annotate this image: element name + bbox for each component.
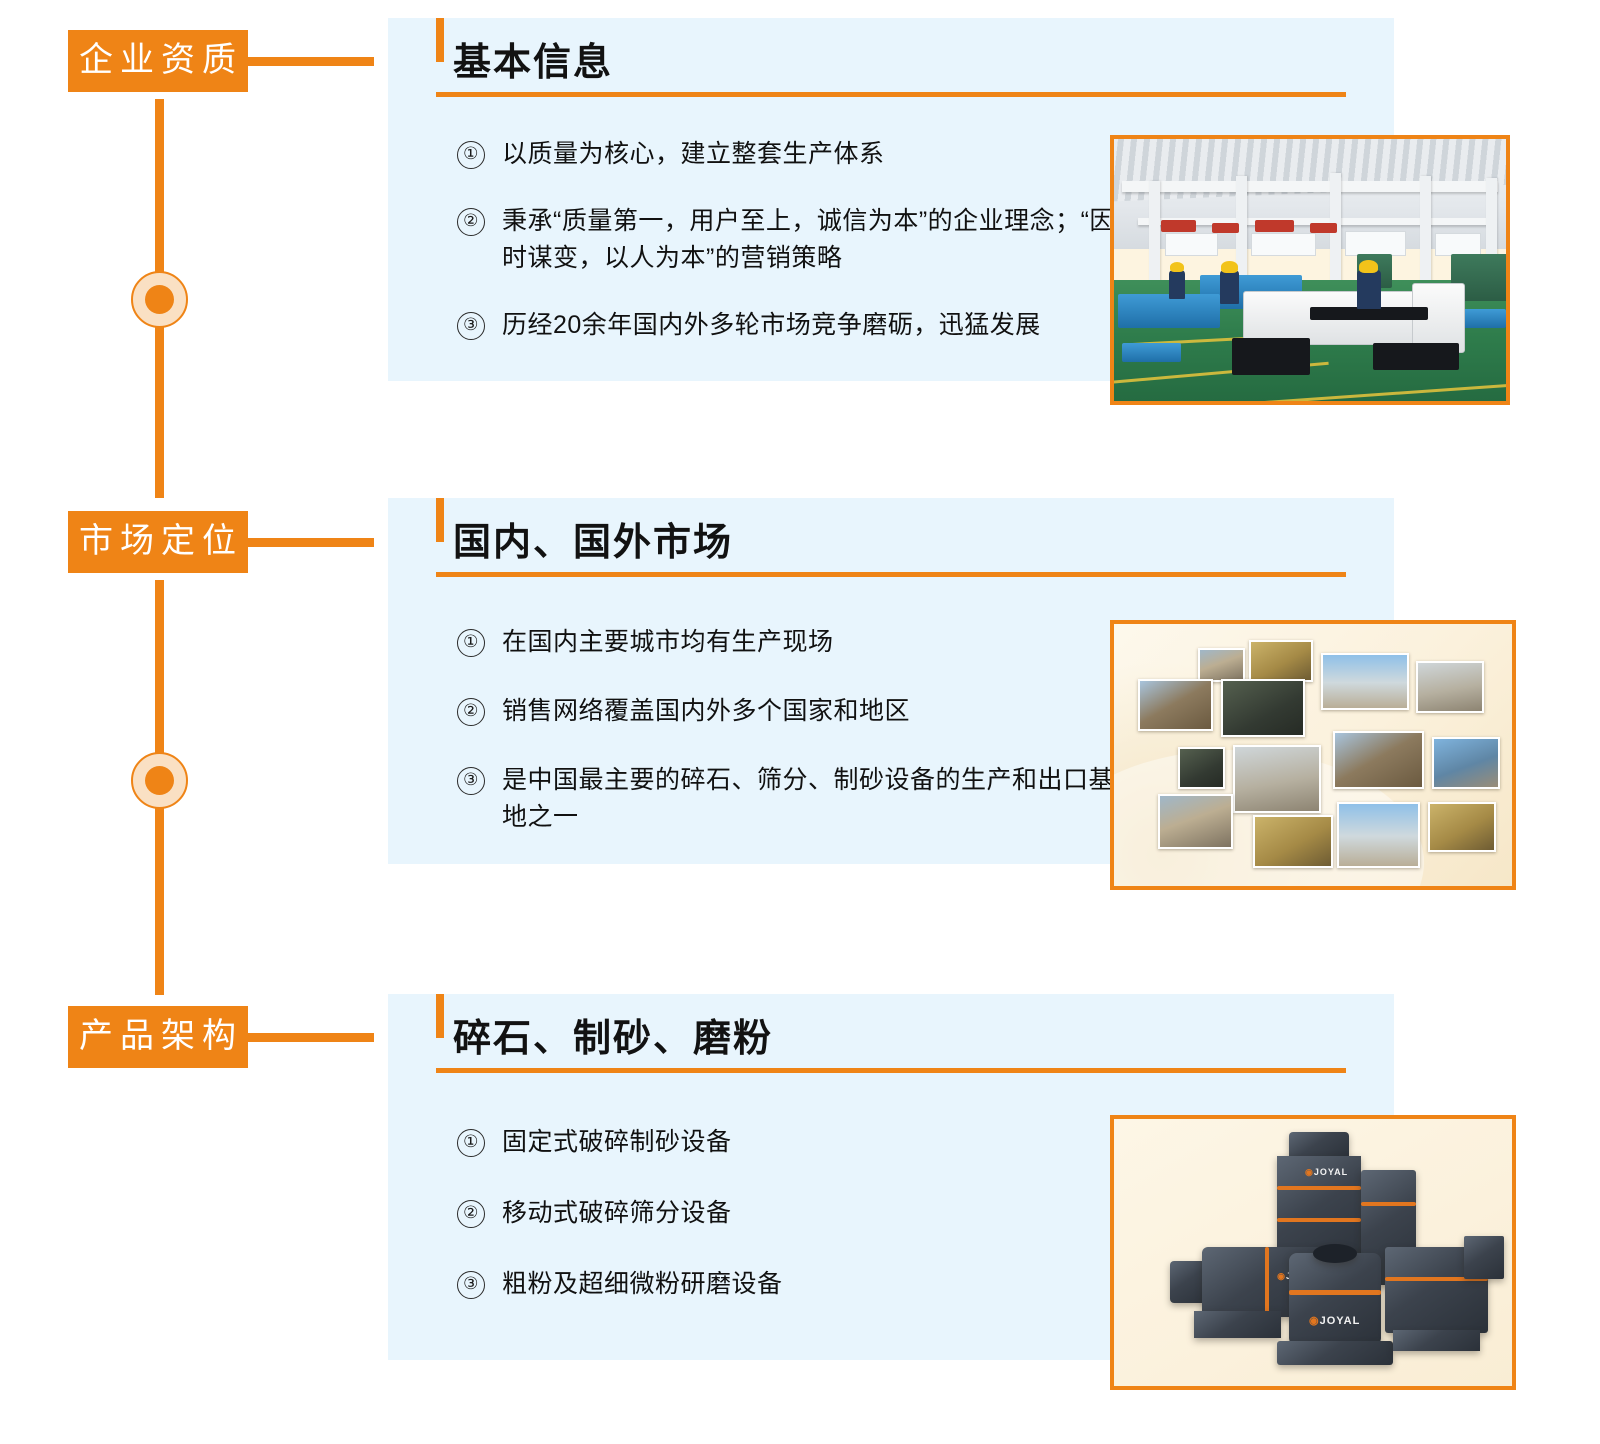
section-photo-3: ◉JOYAL ◉JOYAL ◉JOYAL: [1110, 1115, 1516, 1390]
list-item-text: 粗粉及超细微粉研磨设备: [502, 1266, 1117, 1303]
list-item-text: 在国内主要城市均有生产现场: [502, 624, 1117, 661]
list-item: ② 移动式破碎筛分设备: [457, 1195, 1117, 1232]
product-machinery-illustration: ◉JOYAL ◉JOYAL ◉JOYAL: [1114, 1119, 1512, 1386]
title-underline-3: [436, 1068, 1346, 1073]
title-underline-1: [436, 92, 1346, 97]
list-item: ③ 是中国最主要的碎石、筛分、制砂设备的生产和出口基地之一: [457, 762, 1117, 836]
list-marker-icon: ②: [457, 1200, 485, 1228]
timeline-node-dot-1: [131, 271, 188, 328]
panel-title-row-2: 国内、国外市场: [436, 498, 1346, 590]
section-photo-1: [1110, 135, 1510, 405]
list-item-text: 秉承“质量第一，用户至上，诚信为本”的企业理念；“因时谋变，以人为本”的营销策略: [502, 203, 1117, 277]
list-marker-icon: ①: [457, 629, 485, 657]
infographic-page: 企业资质 市场定位 产品架构 基本信息 ① 以质量为核心，建立整套生产体系 ② …: [0, 0, 1600, 1444]
list-item-text: 固定式破碎制砂设备: [502, 1124, 1117, 1161]
timeline-node-dot-2: [131, 752, 188, 809]
stage-connector-line-3: [248, 1033, 374, 1042]
list-item: ③ 粗粉及超细微粉研磨设备: [457, 1266, 1117, 1303]
panel-title-row-3: 碎石、制砂、磨粉: [436, 994, 1346, 1086]
list-item: ② 秉承“质量第一，用户至上，诚信为本”的企业理念；“因时谋变，以人为本”的营销…: [457, 203, 1117, 277]
list-item-text: 销售网络覆盖国内外多个国家和地区: [502, 693, 1117, 730]
list-item: ③ 历经20余年国内外多轮市场竞争磨砺，迅猛发展: [457, 307, 1117, 344]
list-marker-icon: ①: [457, 141, 485, 169]
stage-badge-label-3: 产品架构: [68, 1006, 248, 1068]
stage-marker-3[interactable]: 产品架构: [68, 1006, 374, 1068]
list-item-text: 以质量为核心，建立整套生产体系: [502, 136, 1117, 173]
stage-badge-label-2: 市场定位: [68, 511, 248, 573]
panel-list-2: ① 在国内主要城市均有生产现场 ② 销售网络覆盖国内外多个国家和地区 ③ 是中国…: [457, 624, 1117, 836]
list-item-text: 历经20余年国内外多轮市场竞争磨砺，迅猛发展: [502, 307, 1117, 344]
panel-list-3: ① 固定式破碎制砂设备 ② 移动式破碎筛分设备 ③ 粗粉及超细微粉研磨设备: [457, 1124, 1117, 1303]
stage-marker-2[interactable]: 市场定位: [68, 511, 374, 573]
list-marker-icon: ③: [457, 767, 485, 795]
list-marker-icon: ②: [457, 208, 485, 236]
list-marker-icon: ①: [457, 1129, 485, 1157]
factory-workshop-illustration: [1114, 139, 1506, 401]
title-underline-2: [436, 572, 1346, 577]
list-item: ② 销售网络覆盖国内外多个国家和地区: [457, 693, 1117, 730]
panel-title-1: 基本信息: [436, 44, 613, 82]
section-photo-2: [1110, 620, 1516, 890]
panel-title-row-1: 基本信息: [436, 18, 1346, 110]
stage-marker-1[interactable]: 企业资质: [68, 30, 374, 92]
list-marker-icon: ③: [457, 312, 485, 340]
list-item: ① 以质量为核心，建立整套生产体系: [457, 136, 1117, 173]
list-item-text: 移动式破碎筛分设备: [502, 1195, 1117, 1232]
stage-connector-line-2: [248, 538, 374, 547]
list-item-text: 是中国最主要的碎石、筛分、制砂设备的生产和出口基地之一: [502, 762, 1117, 836]
list-item: ① 在国内主要城市均有生产现场: [457, 624, 1117, 661]
stage-badge-label-1: 企业资质: [68, 30, 248, 92]
stage-connector-line-1: [248, 57, 374, 66]
list-marker-icon: ②: [457, 698, 485, 726]
panel-list-1: ① 以质量为核心，建立整套生产体系 ② 秉承“质量第一，用户至上，诚信为本”的企…: [457, 136, 1117, 344]
panel-title-2: 国内、国外市场: [436, 524, 733, 562]
list-marker-icon: ③: [457, 1271, 485, 1299]
list-item: ① 固定式破碎制砂设备: [457, 1124, 1117, 1161]
panel-title-3: 碎石、制砂、磨粉: [436, 1020, 773, 1058]
project-collage-illustration: [1114, 624, 1512, 886]
